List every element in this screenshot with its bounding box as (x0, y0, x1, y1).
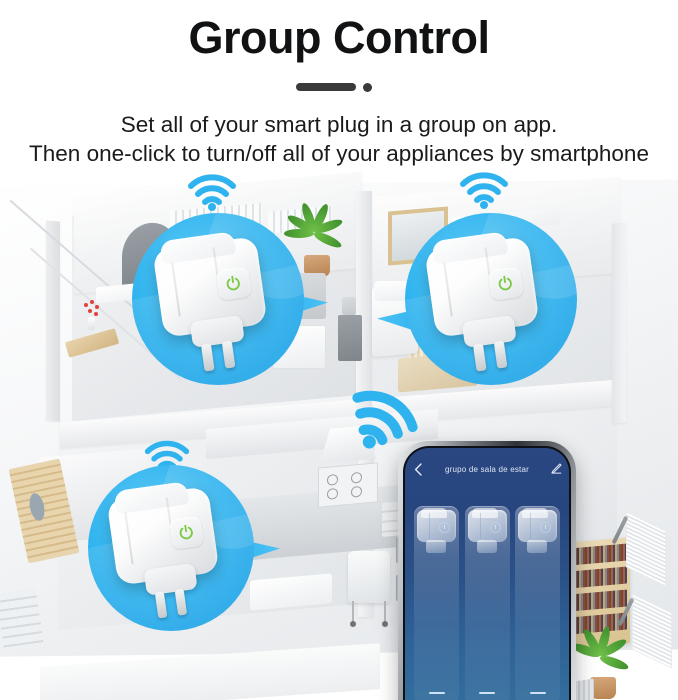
phone-volume-button[interactable] (396, 537, 399, 563)
edit-button[interactable] (543, 463, 569, 475)
power-icon (439, 522, 450, 533)
smart-plug (107, 486, 220, 585)
power-icon (496, 274, 515, 293)
subtitle-line-2: Then one-click to turn/off all of your a… (29, 141, 649, 167)
power-button[interactable] (216, 267, 251, 301)
app-title: grupo de sala de estar (431, 465, 543, 474)
phone-screen: grupo de sala de estar (405, 448, 569, 700)
nightstand (338, 315, 362, 361)
header: Group Control Set all of your smart plug… (0, 0, 678, 170)
house-scene (0, 165, 678, 700)
subtitle-line-1: Set all of your smart plug in a group on… (0, 112, 678, 138)
wifi-icon (458, 169, 510, 209)
slider-handle[interactable] (479, 692, 495, 694)
slider-handle[interactable] (530, 692, 546, 694)
power-button[interactable] (169, 516, 203, 549)
power-button[interactable] (488, 267, 523, 301)
table-lamp (342, 297, 356, 315)
plug-card[interactable] (515, 506, 560, 700)
wifi-icon (186, 171, 238, 211)
smart-plug-icon (417, 510, 456, 554)
power-icon (490, 522, 501, 533)
cooktop (318, 462, 378, 507)
page-title: Group Control (0, 12, 678, 64)
product-banner: Group Control Set all of your smart plug… (0, 0, 678, 700)
group-plug-cards (414, 506, 560, 700)
smart-plug-icon (468, 510, 507, 554)
plug-card[interactable] (465, 506, 510, 700)
smart-plug (152, 236, 267, 338)
wall-right-edge (612, 222, 626, 423)
power-icon (540, 522, 551, 533)
isometric-house (0, 165, 678, 700)
phone-power-button[interactable] (396, 575, 399, 601)
back-button[interactable] (405, 463, 431, 476)
plug-card[interactable] (414, 506, 459, 700)
wall-left-edge (46, 220, 60, 421)
power-icon (224, 274, 243, 293)
divider-bar-icon (296, 83, 356, 91)
slider-handle[interactable] (429, 692, 445, 694)
pencil-icon (550, 463, 562, 475)
smart-plug-icon (518, 510, 557, 554)
app-top-bar: grupo de sala de estar (405, 458, 569, 480)
smart-plug (424, 236, 539, 338)
power-icon (177, 523, 196, 542)
divider (0, 80, 678, 94)
smartphone: grupo de sala de estar (398, 441, 576, 700)
divider-dot-icon (363, 83, 372, 92)
chevron-left-icon (414, 463, 422, 476)
